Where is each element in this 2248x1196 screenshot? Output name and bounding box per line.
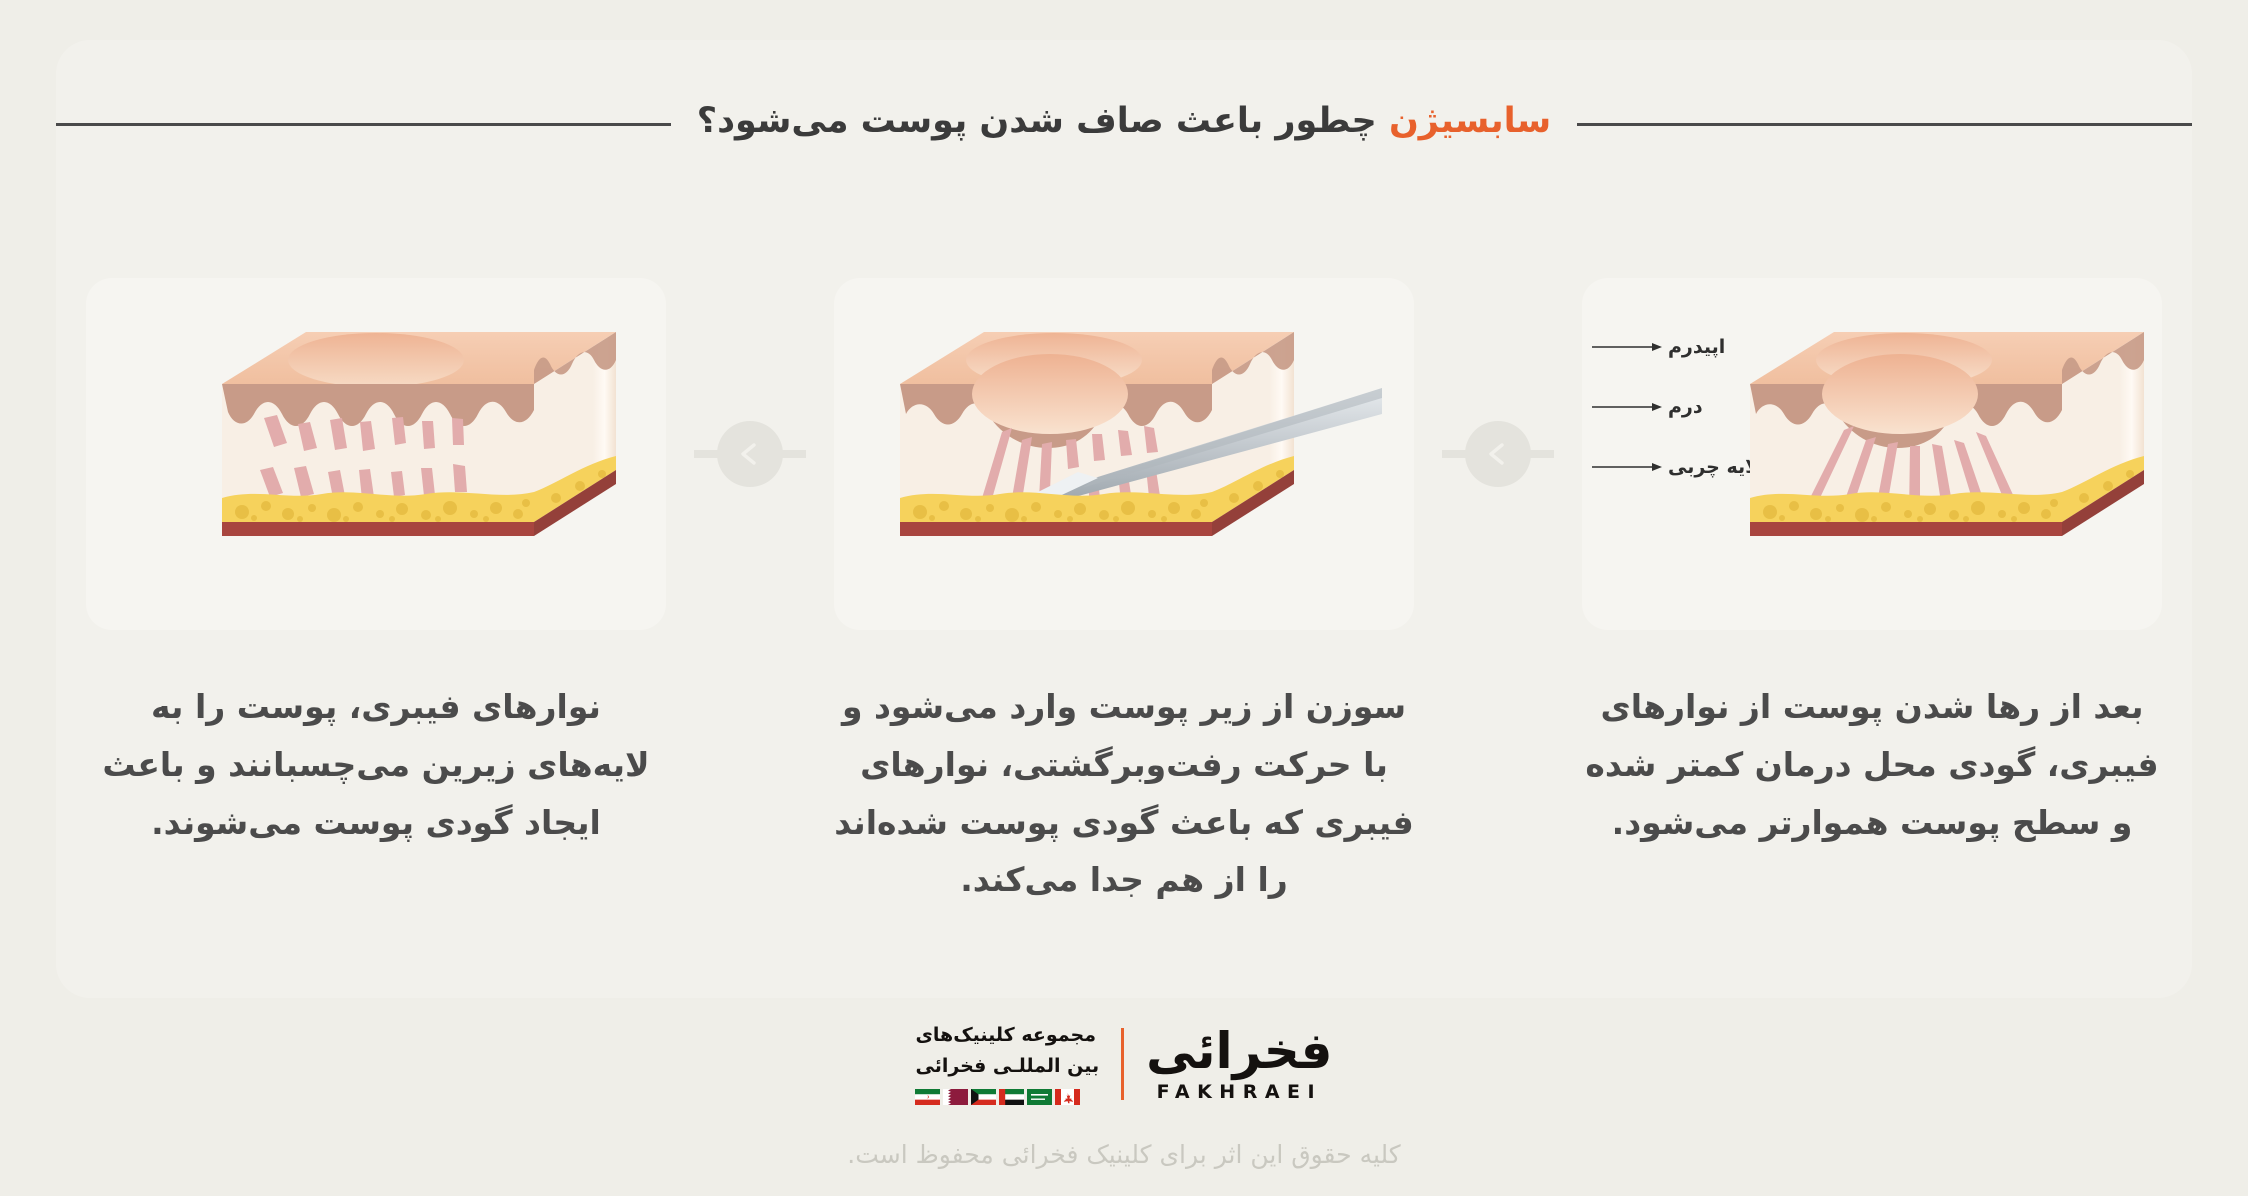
layer-label-epidermis-text: اپیدرم	[1668, 338, 1725, 357]
copyright-footer: کلیه حقوق این اثر برای کلینیک فخرائی محف…	[0, 1140, 2248, 1180]
logo-mark: فخرائی FAKHRAEI	[1146, 1026, 1332, 1102]
title-rule-left	[56, 123, 671, 126]
page-title-rest: چطور باعث صاف شدن پوست می‌شود؟	[697, 101, 1389, 141]
logo-tagline: مجموعه کلینیک‌های بین المللـی فخرائی	[915, 1023, 1099, 1104]
callout-arrow-icon	[1590, 341, 1662, 353]
skin-diagram-smooth-skin	[1732, 322, 2162, 582]
saudi-arabia-flag	[1027, 1089, 1052, 1105]
step-connector-2	[1448, 278, 1548, 630]
page-title: سابسیژن چطور باعث صاف شدن پوست می‌شود؟	[697, 104, 1551, 145]
page-title-highlight: سابسیژن	[1389, 101, 1551, 141]
callout-arrow-icon	[1590, 401, 1662, 413]
uae-flag	[999, 1089, 1024, 1105]
step-caption-smooth-skin: بعد از رها شدن پوست از نوارهای فیبری، گو…	[1582, 678, 2162, 851]
iran-flag	[915, 1089, 940, 1105]
step-image-card-needle-insertion	[834, 278, 1414, 630]
logo-tagline-line2: بین المللـی فخرائی	[915, 1054, 1099, 1080]
brand-logo: فخرائی FAKHRAEI مجموعه کلینیک‌های بین ال…	[0, 1010, 2248, 1118]
skin-diagram-needle-insertion	[882, 322, 1382, 582]
logo-divider	[1121, 1028, 1124, 1100]
infographic-root: سابسیژن چطور باعث صاف شدن پوست می‌شود؟	[0, 0, 2248, 1196]
logo-tagline-line1: مجموعه کلینیک‌های	[915, 1023, 1095, 1049]
chevron-left-icon	[717, 421, 783, 487]
step-column-fibrous-bands: نوارهای فیبری، پوست را به لایه‌های زیرین…	[86, 278, 666, 851]
kuwait-flag	[971, 1089, 996, 1105]
skin-diagram-fibrous-bands	[204, 322, 634, 582]
step-column-smooth-skin: اپیدرم درم لایه چربی	[1582, 278, 2162, 851]
step-column-needle-insertion: سوزن از زیر پوست وارد می‌شود و با حرکت ر…	[834, 278, 1414, 909]
step-image-card-fibrous-bands	[86, 278, 666, 630]
callout-arrow-icon	[1590, 461, 1662, 473]
qatar-flag	[943, 1089, 968, 1105]
logo-brand-fa: فخرائی	[1146, 1026, 1332, 1076]
canada-flag	[1055, 1089, 1080, 1105]
logo-brand-en: FAKHRAEI	[1157, 1083, 1323, 1102]
chevron-left-icon	[1465, 421, 1531, 487]
step-connector-1	[700, 278, 800, 630]
steps-row: نوارهای فیبری، پوست را به لایه‌های زیرین…	[86, 278, 2162, 928]
step-caption-fibrous-bands: نوارهای فیبری، پوست را به لایه‌های زیرین…	[86, 678, 666, 851]
title-row: سابسیژن چطور باعث صاف شدن پوست می‌شود؟	[56, 88, 2192, 160]
logo-flag-row	[915, 1089, 1080, 1105]
step-image-card-smooth-skin: اپیدرم درم لایه چربی	[1582, 278, 2162, 630]
title-rule-right	[1577, 123, 2192, 126]
layer-label-dermis-text: درم	[1668, 398, 1703, 417]
step-caption-needle-insertion: سوزن از زیر پوست وارد می‌شود و با حرکت ر…	[834, 678, 1414, 909]
